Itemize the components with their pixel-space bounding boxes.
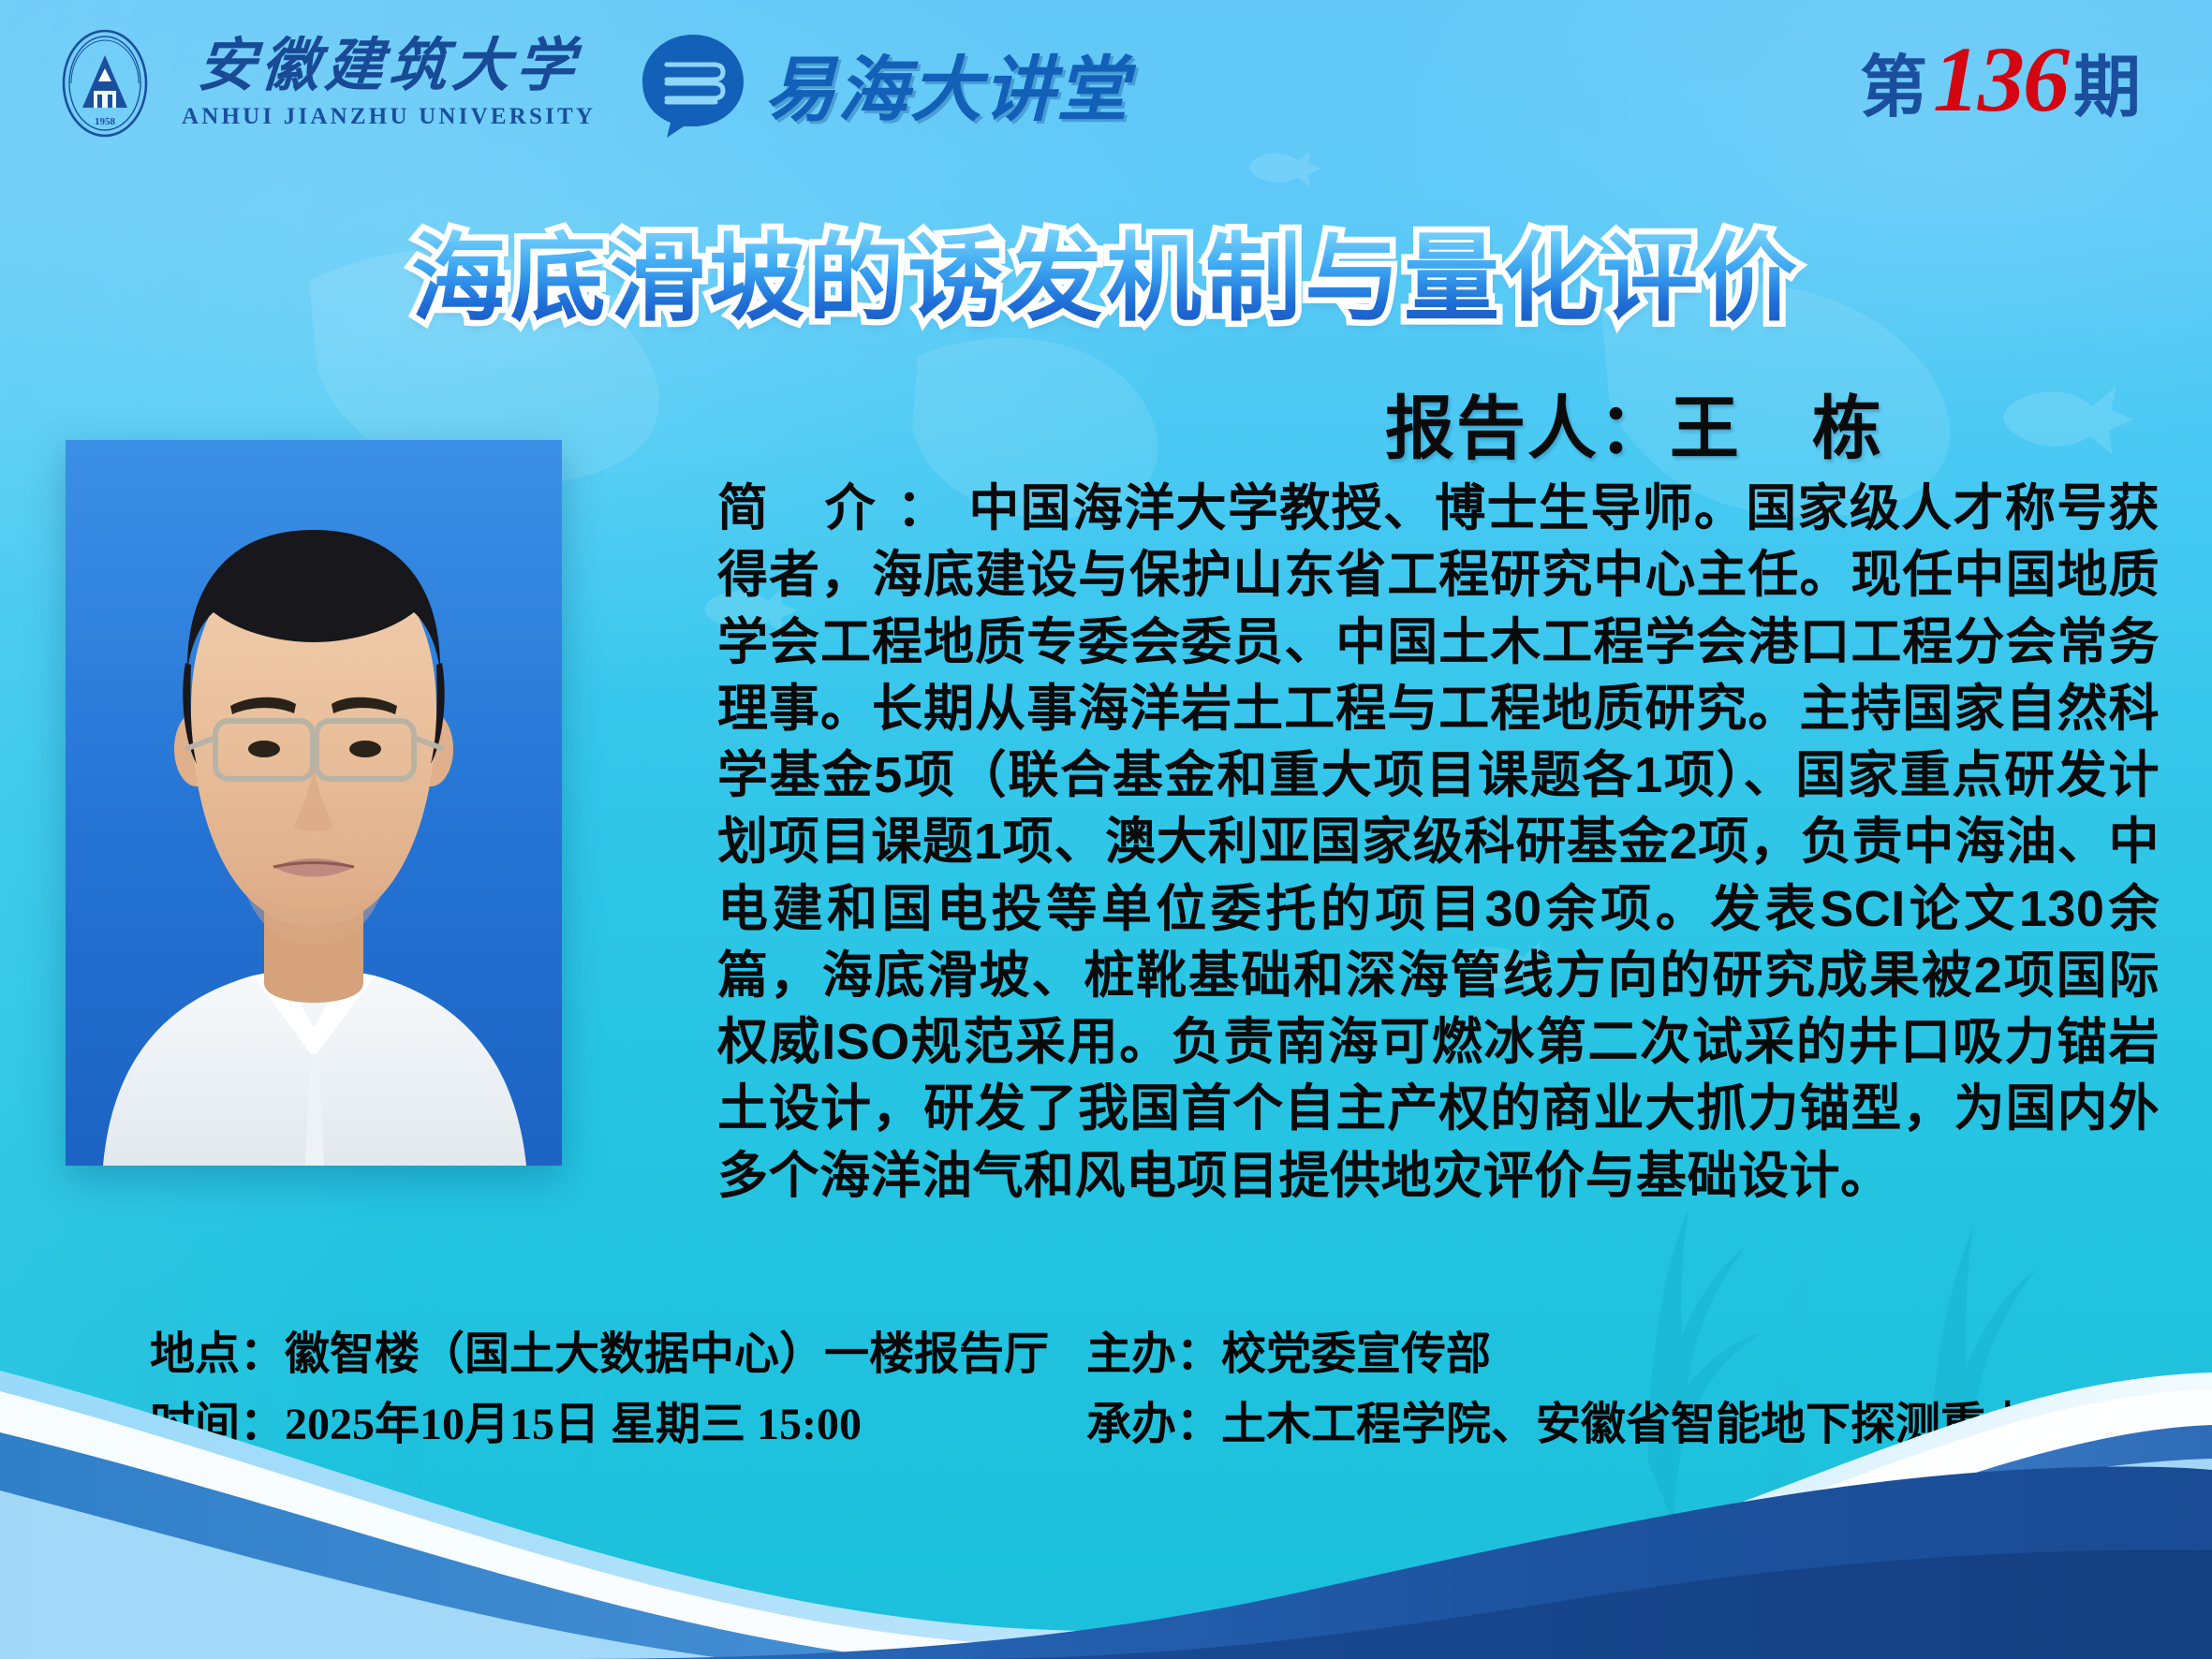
speaker-line: 报告人：王 栋 — [1096, 373, 2173, 473]
speaker-portrait-photo — [66, 440, 562, 1166]
issue-suffix: 期 — [2073, 32, 2141, 130]
svg-text:1958: 1958 — [95, 116, 116, 127]
university-name-en: ANHUI JIANZHU UNIVERSITY — [182, 104, 596, 130]
issue-number-badge: 第 136 期 — [1860, 32, 2141, 130]
lecture-title-wrapper: 海底滑坡的诱发机制与量化评价 海底滑坡的诱发机制与量化评价 — [0, 225, 2212, 334]
issue-number: 136 — [1933, 37, 2068, 122]
university-name-block: 安徽建筑大学 ANHUI JIANZHU UNIVERSITY — [182, 37, 596, 129]
bottom-wave-decoration — [0, 1350, 2212, 1659]
university-crest-icon: 1958 — [49, 27, 161, 139]
bio-label: 简 介： — [717, 480, 968, 536]
university-name-cn: 安徽建筑大学 — [196, 37, 582, 97]
lecture-series-block: 易海大讲堂 — [639, 29, 1129, 138]
bio-text: 中国海洋大学教授、博士生导师。国家级人才称号获得者，海底建设与保护山东省工程研究… — [717, 480, 2160, 1204]
lecture-series-name: 易海大讲堂 — [764, 32, 1129, 135]
speaker-bio: 简 介：中国海洋大学教授、博士生导师。国家级人才称号获得者，海底建设与保护山东省… — [717, 476, 2160, 1210]
lecture-title-fill: 海底滑坡的诱发机制与量化评价 — [411, 226, 1801, 332]
portrait-illustration — [66, 440, 562, 1166]
poster-canvas: 1958 安徽建筑大学 ANHUI JIANZHU UNIVERSITY — [0, 0, 2212, 1659]
issue-prefix: 第 — [1860, 32, 1927, 130]
university-logo-block: 1958 安徽建筑大学 ANHUI JIANZHU UNIVERSITY — [49, 27, 596, 139]
lecture-title: 海底滑坡的诱发机制与量化评价 海底滑坡的诱发机制与量化评价 — [411, 225, 1801, 334]
speech-bubble-book-icon — [639, 29, 747, 138]
poster-header: 1958 安徽建筑大学 ANHUI JIANZHU UNIVERSITY — [0, 0, 2212, 167]
